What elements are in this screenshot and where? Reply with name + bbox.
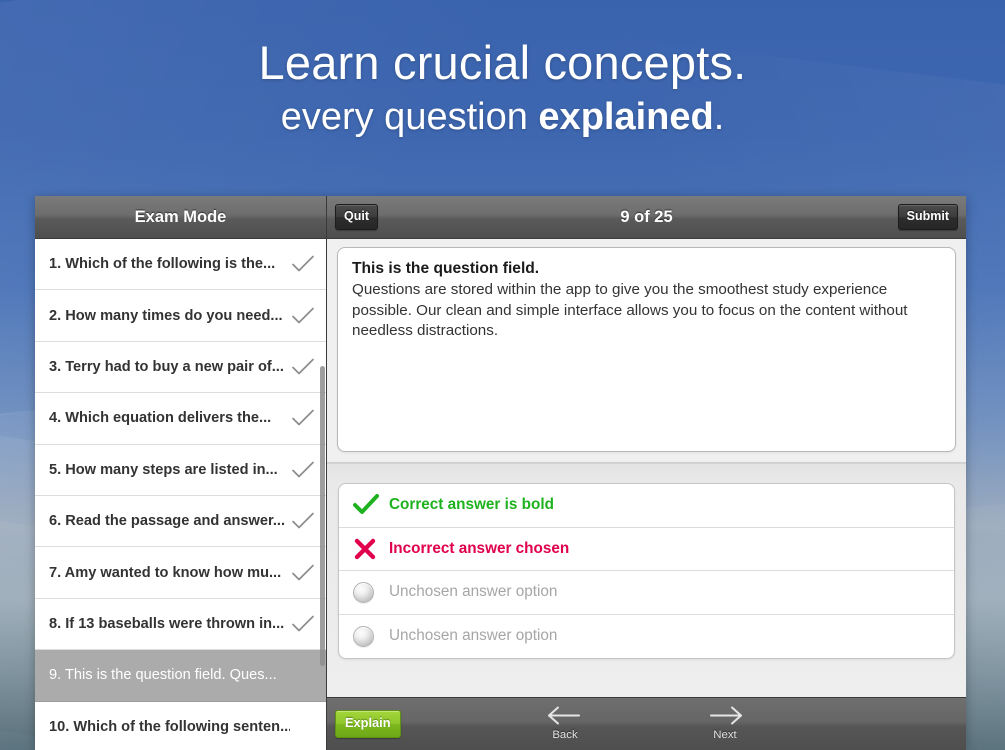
radio-button-icon bbox=[353, 626, 389, 647]
answer-options-list: Correct answer is boldIncorrect answer c… bbox=[338, 483, 955, 659]
answer-option-label: Correct answer is bold bbox=[389, 496, 554, 514]
answer-option-row[interactable]: Incorrect answer chosen bbox=[339, 528, 954, 572]
question-list-item[interactable]: 1. Which of the following is the... bbox=[35, 239, 326, 290]
promo-headline: Learn crucial concepts. every question e… bbox=[0, 38, 1005, 141]
arrow-left-icon bbox=[545, 702, 585, 729]
question-title: This is the question field. bbox=[352, 259, 941, 279]
question-list-item-label: 9. This is the question field. Ques... bbox=[49, 667, 290, 683]
question-list-item-label: 4. Which equation delivers the... bbox=[49, 410, 290, 426]
cross-mark-icon bbox=[353, 538, 389, 560]
check-icon bbox=[290, 357, 316, 377]
headline-line-2-prefix: every question bbox=[281, 96, 539, 138]
sidebar-scrollbar[interactable] bbox=[320, 366, 325, 666]
check-icon bbox=[290, 563, 316, 583]
explain-button[interactable]: Explain bbox=[335, 710, 401, 738]
check-icon bbox=[290, 408, 316, 428]
check-icon bbox=[290, 614, 316, 634]
question-list-item[interactable]: 2. How many times do you need... bbox=[35, 290, 326, 341]
sidebar: Exam Mode 1. Which of the following is t… bbox=[35, 196, 327, 750]
question-list-item-label: 1. Which of the following is the... bbox=[49, 256, 290, 272]
top-toolbar: Quit 9 of 25 Submit bbox=[327, 196, 966, 239]
answer-option-label: Incorrect answer chosen bbox=[389, 540, 569, 558]
headline-line-2: every question explained. bbox=[0, 93, 1005, 141]
next-label: Next bbox=[713, 729, 736, 741]
main-panel: Quit 9 of 25 Submit This is the question… bbox=[327, 196, 966, 750]
check-icon bbox=[290, 460, 316, 480]
question-list-item[interactable]: 9. This is the question field. Ques... bbox=[35, 650, 326, 701]
answer-option-row[interactable]: Unchosen answer option bbox=[339, 615, 954, 659]
question-list-item-label: 5. How many steps are listed in... bbox=[49, 462, 290, 478]
headline-line-2-suffix: . bbox=[714, 96, 725, 138]
question-list-item[interactable]: 3. Terry had to buy a new pair of... bbox=[35, 342, 326, 393]
arrow-right-icon bbox=[705, 702, 745, 729]
back-label: Back bbox=[552, 729, 577, 741]
question-area: This is the question field. Questions ar… bbox=[327, 239, 966, 463]
question-list-item-label: 8. If 13 baseballs were thrown in... bbox=[49, 616, 290, 632]
radio-button-icon bbox=[353, 582, 389, 603]
check-icon bbox=[290, 254, 316, 274]
question-list-item-label: 3. Terry had to buy a new pair of... bbox=[49, 359, 290, 375]
check-mark-icon bbox=[353, 494, 389, 516]
answer-area: Correct answer is boldIncorrect answer c… bbox=[327, 463, 966, 697]
sidebar-header: Exam Mode bbox=[35, 196, 326, 239]
question-counter: 9 of 25 bbox=[327, 208, 966, 227]
question-list-item[interactable]: 7. Amy wanted to know how mu... bbox=[35, 547, 326, 598]
submit-button[interactable]: Submit bbox=[898, 204, 958, 230]
question-list-item-label: 6. Read the passage and answer... bbox=[49, 513, 290, 529]
question-list-item-label: 10. Which of the following senten... bbox=[49, 719, 290, 735]
headline-line-2-emphasis: explained bbox=[538, 96, 713, 138]
answer-option-row[interactable]: Correct answer is bold bbox=[339, 484, 954, 528]
answer-option-label: Unchosen answer option bbox=[389, 627, 557, 645]
radio-circle bbox=[353, 626, 374, 647]
answer-option-row[interactable]: Unchosen answer option bbox=[339, 571, 954, 615]
answer-option-label: Unchosen answer option bbox=[389, 583, 557, 601]
app-window: Exam Mode 1. Which of the following is t… bbox=[35, 196, 966, 750]
question-body: Questions are stored within the app to g… bbox=[352, 280, 941, 342]
question-list-item-label: 7. Amy wanted to know how mu... bbox=[49, 565, 290, 581]
check-icon bbox=[290, 511, 316, 531]
quit-button[interactable]: Quit bbox=[335, 204, 378, 230]
question-list[interactable]: 1. Which of the following is the...2. Ho… bbox=[35, 239, 326, 750]
radio-circle bbox=[353, 582, 374, 603]
question-list-item[interactable]: 5. How many steps are listed in... bbox=[35, 445, 326, 496]
back-button[interactable]: Back bbox=[530, 702, 600, 741]
question-card: This is the question field. Questions ar… bbox=[337, 247, 956, 452]
question-list-item[interactable]: 4. Which equation delivers the... bbox=[35, 393, 326, 444]
question-list-item-label: 2. How many times do you need... bbox=[49, 308, 290, 324]
headline-line-1: Learn crucial concepts. bbox=[0, 38, 1005, 88]
bottom-toolbar: Explain Back Next bbox=[327, 697, 966, 750]
question-list-item[interactable]: 6. Read the passage and answer... bbox=[35, 496, 326, 547]
question-list-item[interactable]: 8. If 13 baseballs were thrown in... bbox=[35, 599, 326, 650]
next-button[interactable]: Next bbox=[690, 702, 760, 741]
check-icon bbox=[290, 306, 316, 326]
question-list-item[interactable]: 10. Which of the following senten... bbox=[35, 702, 326, 750]
